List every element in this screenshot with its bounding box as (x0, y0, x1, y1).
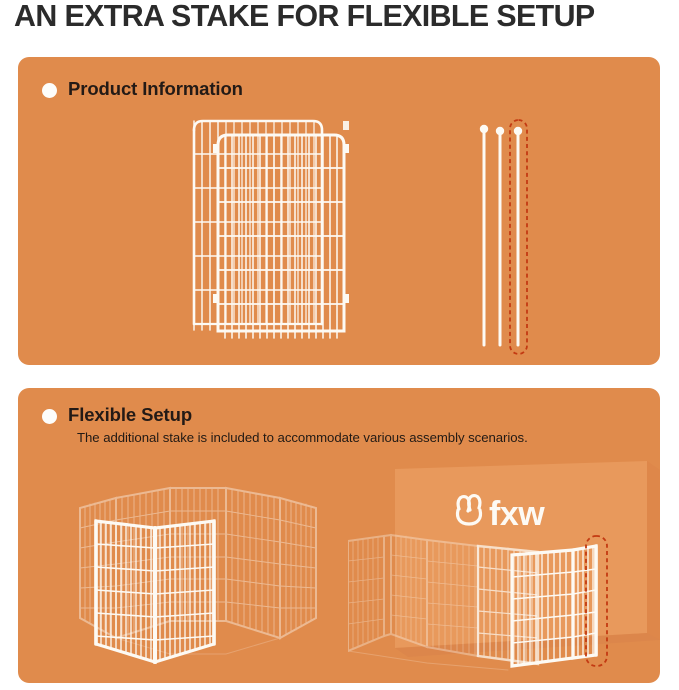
card-flexible-setup: Flexible Setup The additional stake is i… (18, 388, 660, 683)
card-product-information: Product Information (18, 57, 660, 365)
page-title: AN EXTRA STAKE FOR FLEXIBLE SETUP (14, 0, 666, 34)
octagon-playpen-illustration (58, 466, 333, 666)
bullet-dot-icon (42, 409, 57, 424)
stake-3-highlighted (514, 127, 522, 345)
wall-backdrop (395, 461, 660, 657)
brand-wordmark: fxw (489, 495, 545, 533)
card-flexible-title: Flexible Setup (68, 404, 192, 426)
card-product-header: Product Information (42, 78, 243, 100)
card-flexible-subtitle: The additional stake is included to acco… (77, 430, 528, 445)
card-flexible-header: Flexible Setup (42, 404, 192, 426)
card-product-title: Product Information (68, 78, 243, 100)
stake-trio-illustration (466, 117, 586, 357)
bullet-dot-icon (42, 83, 57, 98)
stake-2 (496, 127, 504, 345)
product-feature-page: AN EXTRA STAKE FOR FLEXIBLE SETUP Produc… (0, 0, 679, 690)
wire-panel-pair-illustration (168, 112, 388, 352)
stake-1 (480, 125, 488, 345)
wall-mounted-pen-illustration: fxw (348, 458, 660, 673)
